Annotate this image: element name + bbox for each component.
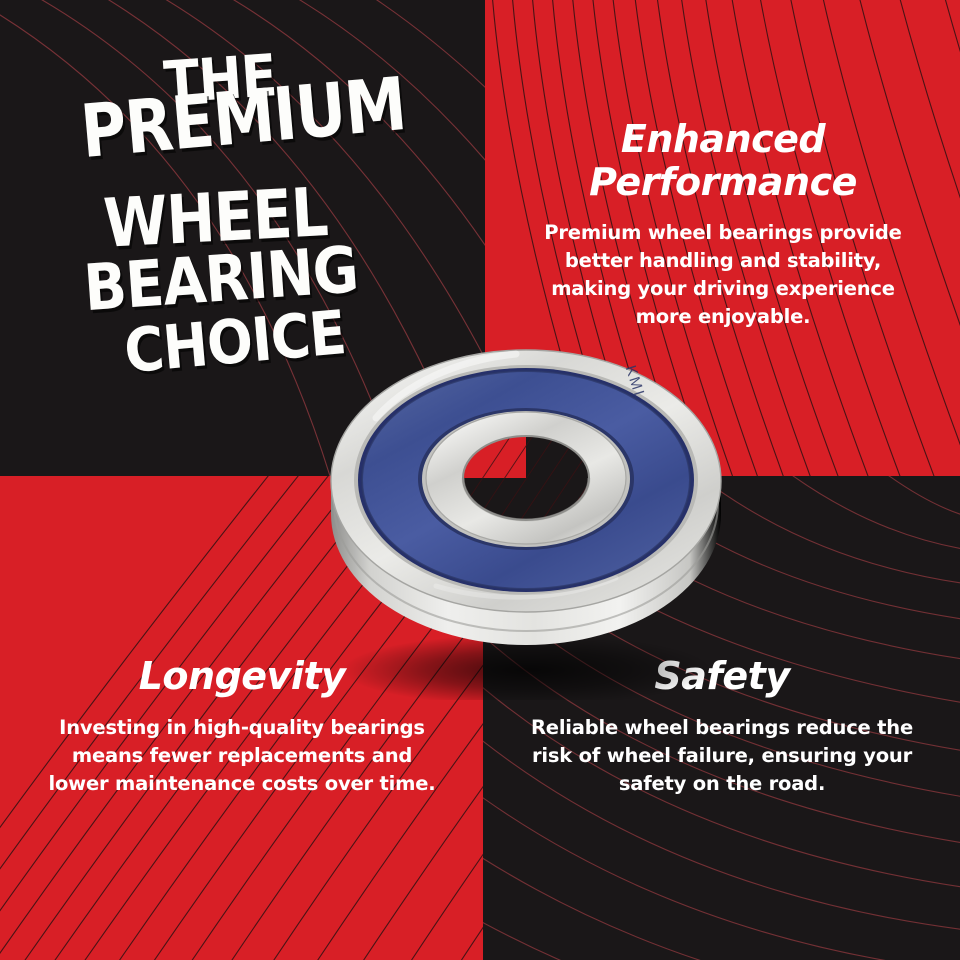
feature-body-line: making your driving experience bbox=[519, 275, 927, 303]
feature-body-line: lower maintenance costs over time. bbox=[38, 770, 446, 798]
feature-heading-line1: Longevity bbox=[139, 654, 346, 698]
feature-heading-line2: Performance bbox=[589, 160, 857, 204]
feature-body-line: better handling and stability, bbox=[519, 247, 927, 275]
feature-body-line: Premium wheel bearings provide bbox=[519, 219, 927, 247]
headline-line-5: CHOICE bbox=[122, 303, 348, 383]
headline-line-2: PREMIUM bbox=[78, 68, 408, 169]
feature-body: Reliable wheel bearings reduce the risk … bbox=[516, 714, 928, 798]
feature-body: Premium wheel bearings provide better ha… bbox=[519, 219, 927, 331]
feature-heading: Enhanced Performance bbox=[519, 118, 927, 203]
feature-body-line: Investing in high-quality bearings bbox=[38, 714, 446, 742]
promo-poster: THE PREMIUM WHEEL BEARING CHOICE Enhance… bbox=[0, 0, 960, 960]
feature-enhanced-performance: Enhanced Performance Premium wheel beari… bbox=[519, 118, 927, 331]
feature-body-line: risk of wheel failure, ensuring your bbox=[516, 742, 928, 770]
product-image-ball-bearing: KML bbox=[316, 318, 736, 700]
feature-body-line: safety on the road. bbox=[516, 770, 928, 798]
feature-body: Investing in high-quality bearings means… bbox=[38, 714, 446, 798]
feature-body-line: means fewer replacements and bbox=[38, 742, 446, 770]
feature-body-line: Reliable wheel bearings reduce the bbox=[516, 714, 928, 742]
feature-heading-line1: Enhanced bbox=[621, 117, 825, 161]
